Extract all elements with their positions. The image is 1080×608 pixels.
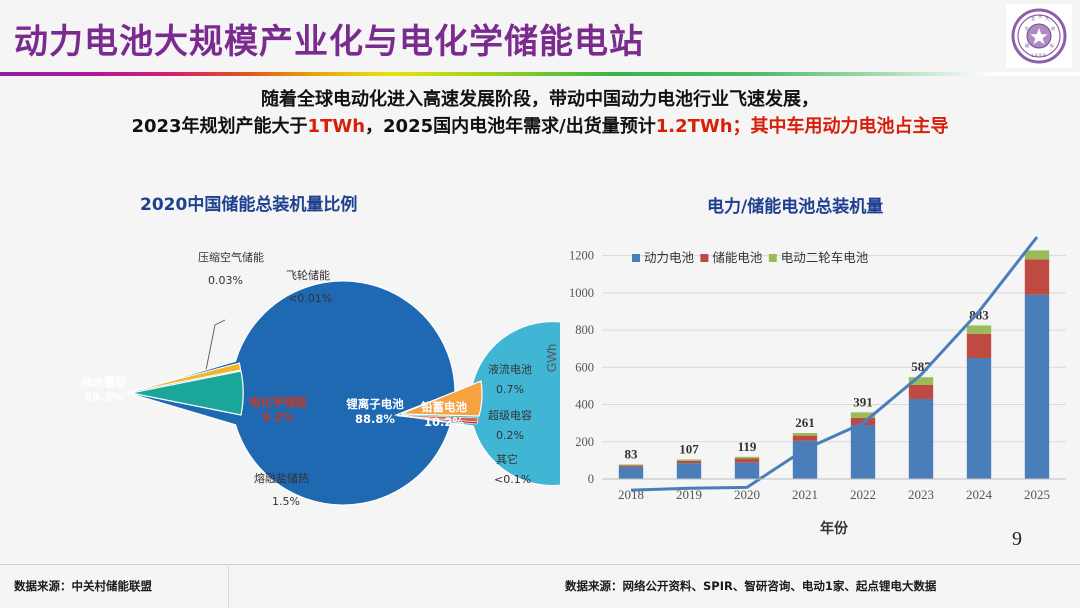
bar-segment — [1025, 295, 1049, 479]
pie-callout-flywheel-label: 飞轮储能 — [286, 267, 330, 283]
bar-segment — [735, 457, 759, 459]
bar-data-label: 107 — [679, 441, 699, 456]
subpie-label-lead-acid: 铅蓄电池10.2% — [404, 400, 484, 430]
university-seal-logo: 北京大 学校 徽标 1 8 9 8 — [1006, 4, 1072, 68]
bar-chart-title: 电力/储能电池总装机量 — [707, 192, 883, 217]
x-axis-tick: 2025 — [1024, 487, 1050, 502]
slide-root: 动力电池大规模产业化与电化学储能电站 北京大 学校 徽标 1 8 9 8 随着全… — [0, 0, 1080, 608]
y-axis-tick: 1200 — [569, 249, 594, 263]
bar-segment — [793, 433, 817, 436]
bar-segment — [1025, 259, 1049, 294]
svg-text:1 8 9 8: 1 8 9 8 — [1031, 53, 1046, 58]
svg-text:大: 大 — [1045, 15, 1049, 22]
subpie-callout-other-value: <0.1% — [494, 473, 531, 486]
bar-segment — [735, 463, 759, 479]
pie-chart-area: 抽水蓄能89.3% 锂离子电池88.8% 铅蓄电池10.2% 电化学储能9.2%… — [0, 215, 560, 545]
legend-swatch — [769, 254, 777, 262]
footer-vertical-divider — [228, 566, 229, 608]
bar-chart-svg: 020040060080010001200GWh8320181072019119… — [540, 215, 1080, 545]
bar-segment — [619, 467, 643, 479]
svg-text:校: 校 — [1051, 25, 1056, 32]
subpie-callout-supercapacitor-label: 超级电容 — [488, 407, 532, 423]
y-axis-tick: 600 — [575, 360, 594, 374]
svg-text:学: 学 — [1025, 25, 1029, 31]
x-axis-tick: 2024 — [966, 487, 993, 502]
subtitle-highlight-12twh: 1.2TWh；其中车用动力电池占主导 — [656, 116, 949, 137]
bar-segment — [851, 425, 875, 479]
bar-segment — [967, 334, 991, 358]
bar-segment — [909, 399, 933, 479]
subtitle-line-2: 2023年规划产能大于1TWh，2025国内电池年需求/出货量预计1.2TWh；… — [0, 113, 1080, 140]
footer-divider — [0, 564, 1080, 565]
page-title: 动力电池大规模产业化与电化学储能电站 — [14, 14, 644, 63]
seal-icon: 北京大 学校 徽标 1 8 9 8 — [1010, 7, 1068, 65]
x-axis-tick: 2021 — [792, 487, 818, 502]
pie-callout-molten-salt-label: 熔融盐储热 — [254, 470, 309, 486]
pie-callout-compressed-air-value: 0.03% — [208, 274, 243, 287]
bar-segment — [967, 325, 991, 333]
bar-segment — [967, 358, 991, 479]
legend-swatch — [700, 254, 708, 262]
y-axis-tick: 800 — [575, 323, 594, 337]
subtitle-line-1: 随着全球电动化进入高速发展阶段，带动中国动力电池行业飞速发展， — [0, 86, 1080, 113]
pie-label-electrochemical: 电化学储能9.2% — [228, 395, 328, 425]
subpie-callout-flow-battery-label: 液流电池 — [488, 361, 532, 377]
pie-chart-title: 2020中国储能总装机量比例 — [140, 190, 357, 215]
bar-segment — [677, 461, 701, 463]
subtitle-highlight-1twh: 1TWh — [308, 116, 365, 137]
page-number: 9 — [1012, 528, 1022, 551]
x-axis-tick: 2020 — [734, 487, 760, 502]
legend-label: 电动二轮车电池 — [781, 250, 869, 265]
source-note-right: 数据来源：网络公开资料、SPIR、智研咨询、电动1家、起点锂电大数据 — [565, 578, 936, 594]
bar-segment — [677, 463, 701, 479]
legend-swatch — [632, 254, 640, 262]
x-axis-label: 年份 — [820, 520, 849, 537]
pie-callout-compressed-air-label: 压缩空气储能 — [198, 249, 264, 265]
y-axis-tick: 1000 — [569, 286, 594, 300]
svg-text:标: 标 — [1050, 42, 1054, 49]
pie-callout-flywheel-value: <0.01% — [288, 292, 332, 305]
bar-data-label: 119 — [738, 439, 757, 454]
pie-label-pumped-hydro: 抽水蓄能89.3% — [44, 375, 164, 405]
bar-data-label: 83 — [625, 446, 639, 461]
bar-chart-area: 020040060080010001200GWh8320181072019119… — [540, 215, 1080, 545]
subtitle-block: 随着全球电动化进入高速发展阶段，带动中国动力电池行业飞速发展， 2023年规划产… — [0, 86, 1080, 140]
bar-segment — [619, 464, 643, 465]
subpie-callout-flow-battery-value: 0.7% — [496, 383, 524, 396]
bar-data-label: 261 — [795, 415, 815, 430]
subpie-callout-other-label: 其它 — [496, 451, 518, 467]
bar-segment — [909, 385, 933, 399]
svg-text:北: 北 — [1031, 15, 1036, 22]
x-axis-tick: 2022 — [850, 487, 876, 502]
bar-segment — [677, 459, 701, 460]
pie-callout-molten-salt-value: 1.5% — [272, 495, 300, 508]
bar-segment — [735, 459, 759, 463]
y-axis-label: GWh — [545, 344, 559, 373]
bar-segment — [619, 465, 643, 466]
x-axis-tick: 2023 — [908, 487, 934, 502]
bar-segment — [1025, 250, 1049, 259]
y-axis-tick: 400 — [575, 398, 594, 412]
bar-segment — [793, 436, 817, 441]
svg-text:京: 京 — [1038, 13, 1042, 20]
legend-label: 动力电池 — [644, 250, 695, 265]
rainbow-divider — [0, 72, 1080, 76]
y-axis-tick: 0 — [588, 472, 594, 486]
subtitle-seg-c: ，2025国内电池年需求/出货量预计 — [365, 116, 656, 137]
subpie-callout-supercapacitor-value: 0.2% — [496, 429, 524, 442]
y-axis-tick: 200 — [575, 435, 594, 449]
subtitle-seg-a: 2023年规划产能大于 — [131, 116, 307, 137]
source-note-left: 数据来源：中关村储能联盟 — [14, 578, 152, 594]
bar-data-label: 391 — [853, 394, 873, 409]
legend-label: 储能电池 — [712, 250, 763, 265]
